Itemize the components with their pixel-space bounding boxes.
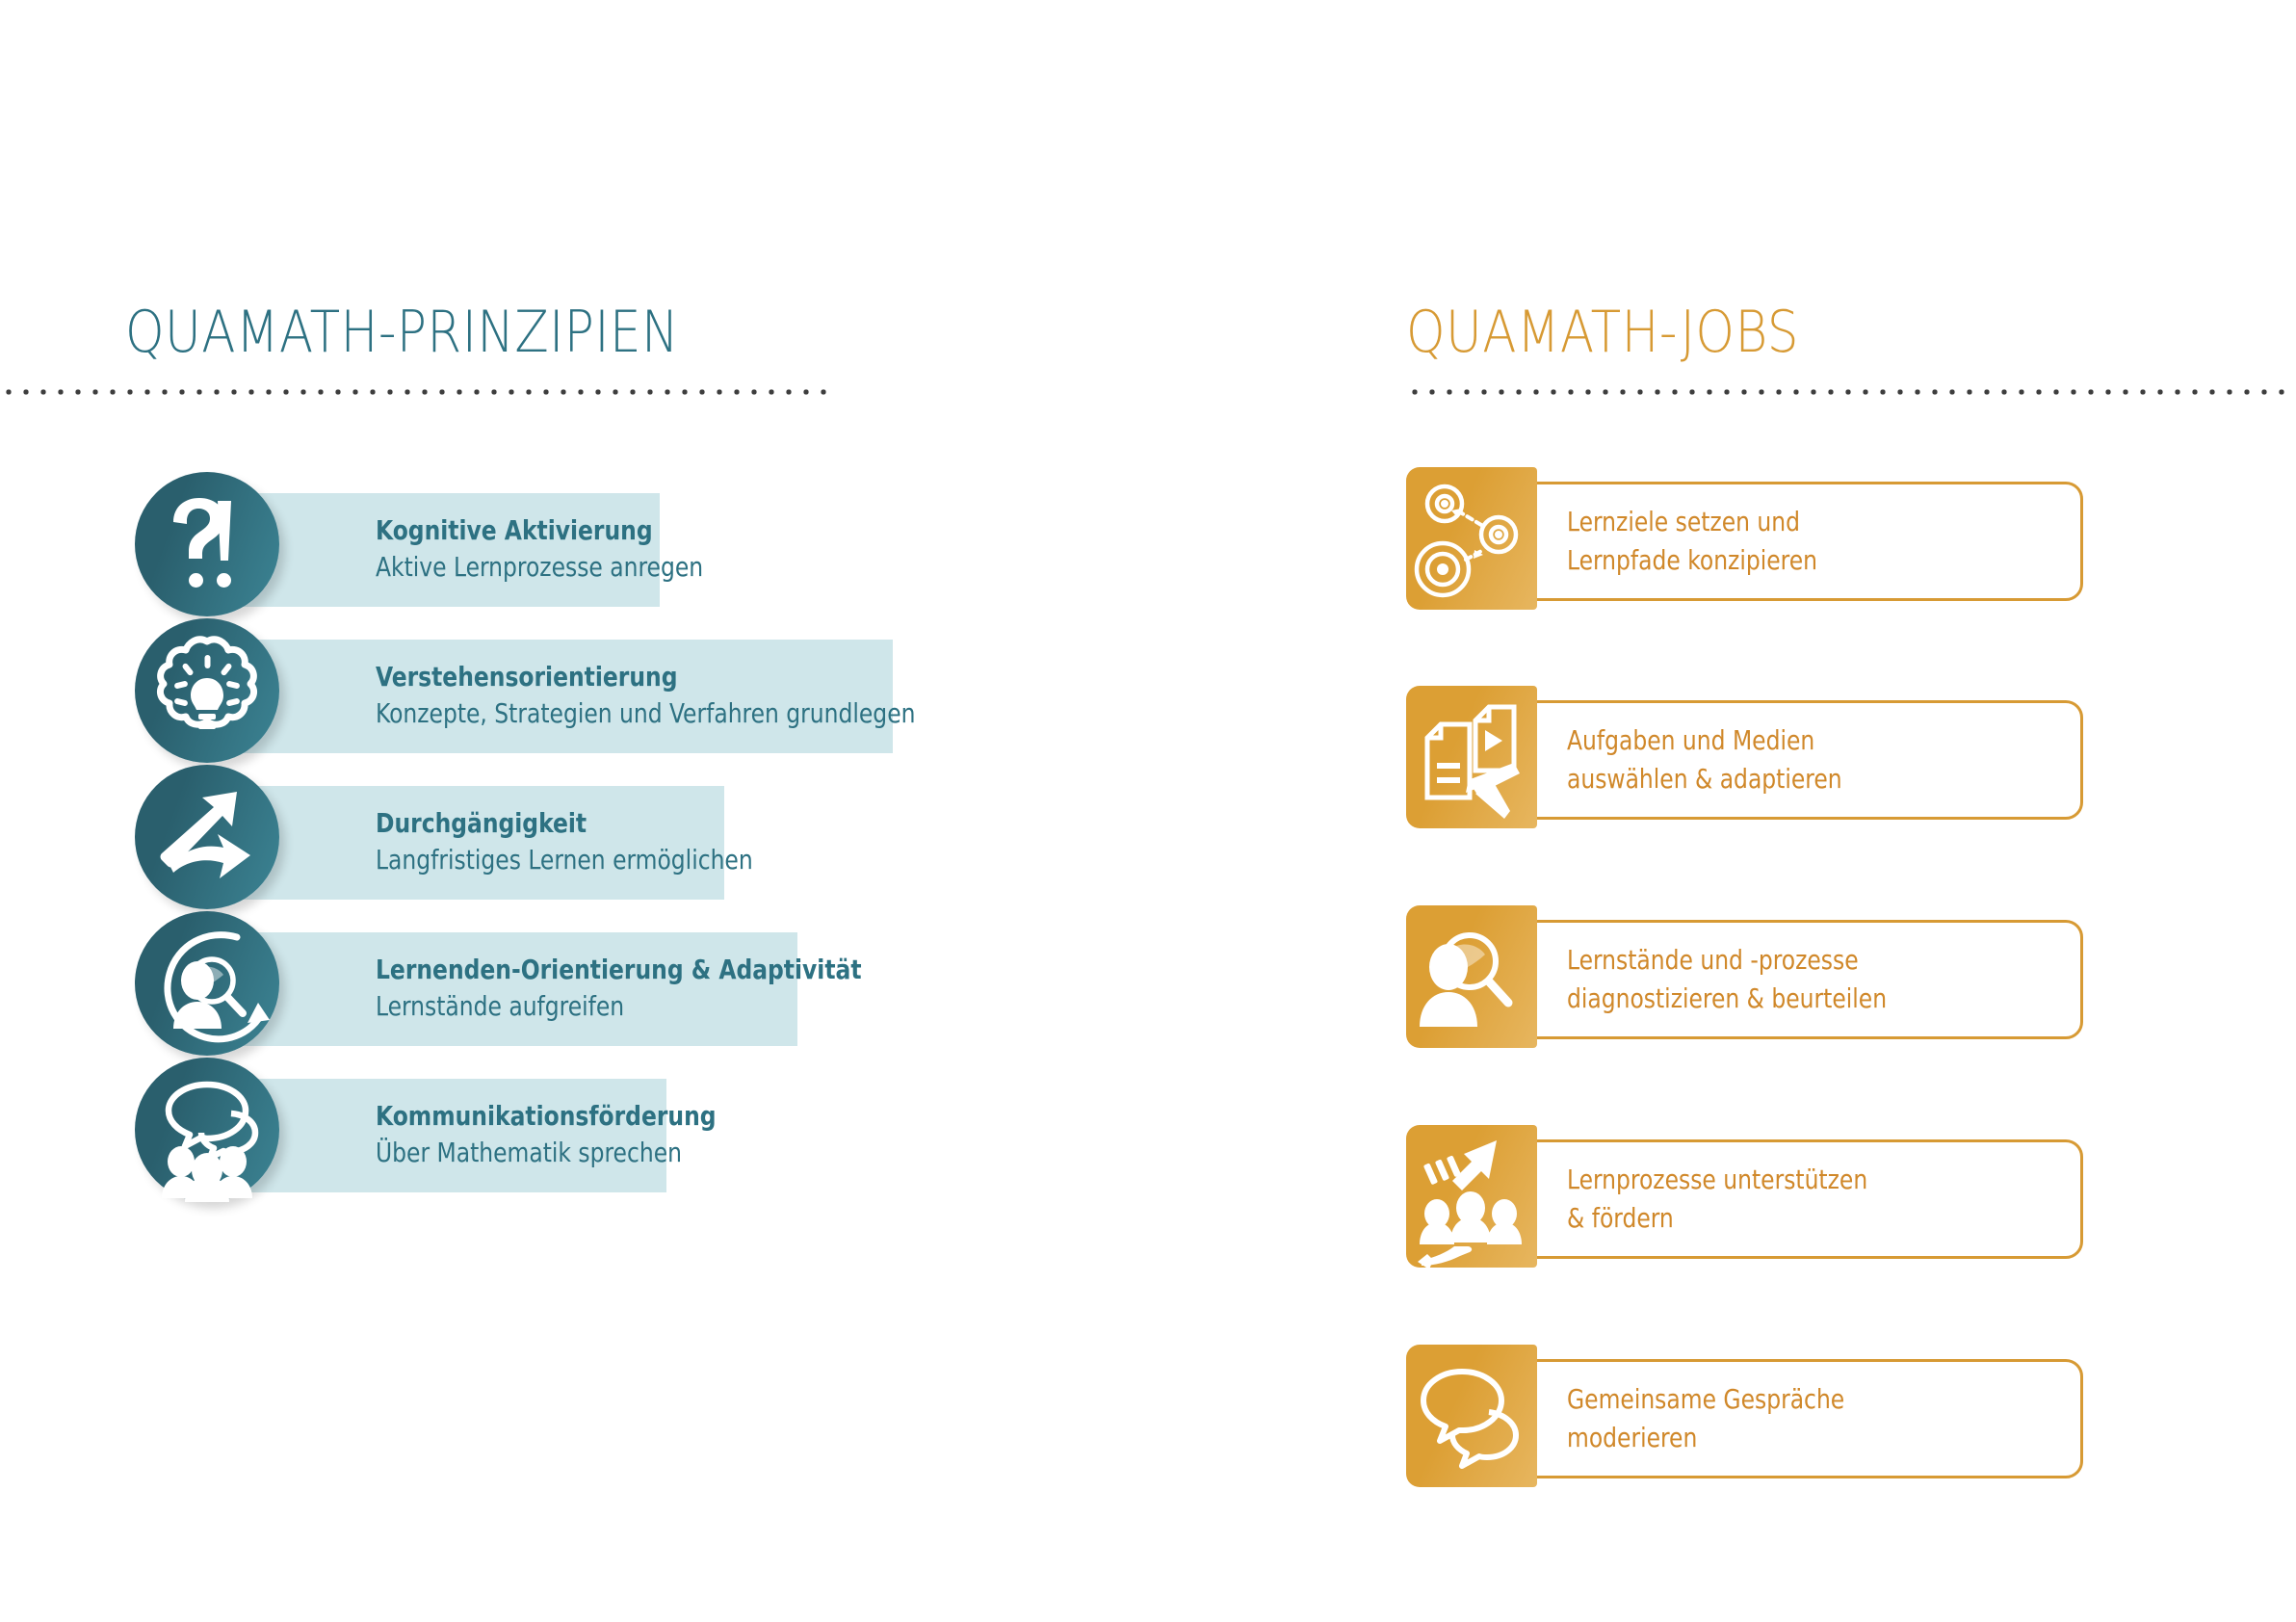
- job-line-2: diagnostizieren & beurteilen: [1567, 980, 2022, 1018]
- principle-title: Kognitive Aktivierung: [376, 514, 616, 547]
- people-arrow-hand-icon: [1406, 1125, 1537, 1268]
- job-line-1: Gemeinsame Gespräche: [1567, 1380, 2022, 1419]
- question-exclamation-icon: [135, 472, 279, 616]
- job-line-2: moderieren: [1567, 1419, 2022, 1457]
- principle-panel: Durchgängigkeit Langfristiges Lernen erm…: [207, 786, 724, 900]
- principle-title: Kommunikationsförderung: [376, 1100, 623, 1133]
- person-magnifier-icon: [1406, 905, 1537, 1048]
- job-textbox: Gemeinsame Gespräche moderieren: [1520, 1359, 2083, 1478]
- divider-dotted-right: [1406, 389, 2296, 395]
- principle-subtitle: Langfristiges Lernen ermöglichen: [376, 843, 676, 877]
- two-speech-bubbles-icon: [1406, 1345, 1537, 1487]
- job-line-2: auswählen & adaptieren: [1567, 760, 2022, 798]
- job-textbox: Lernziele setzen und Lernpfade konzipier…: [1520, 482, 2083, 601]
- principle-subtitle: Konzepte, Strategien und Verfahren grund…: [376, 696, 833, 731]
- speech-bubbles-people-icon: [135, 1058, 279, 1202]
- page-title-jobs: QUAMATH-JOBS: [1406, 299, 1799, 366]
- job-line-1: Aufgaben und Medien: [1567, 721, 2022, 760]
- divider-dotted-left: [0, 389, 828, 395]
- infographic-page: QUAMATH-PRINZIPIEN QUAMATH-JOBS Kognitiv…: [0, 0, 2296, 1622]
- job-line-1: Lernstände und -prozesse: [1567, 941, 2022, 980]
- job-line-2: & fördern: [1567, 1199, 2022, 1238]
- job-textbox: Lernstände und -prozesse diagnostizieren…: [1520, 920, 2083, 1039]
- principle-title: Lernenden-Orientierung & Adaptivität: [376, 954, 744, 986]
- documents-pencil-icon: [1406, 686, 1537, 828]
- principle-subtitle: Aktive Lernprozesse anregen: [376, 550, 616, 585]
- principle-title: Durchgängigkeit: [376, 807, 676, 840]
- job-textbox: Aufgaben und Medien auswählen & adaptier…: [1520, 700, 2083, 820]
- principle-title: Verstehensorientierung: [376, 661, 833, 693]
- principle-panel: Lernenden-Orientierung & Adaptivität Ler…: [207, 932, 797, 1046]
- principle-subtitle: Lernstände aufgreifen: [376, 989, 744, 1024]
- job-line-1: Lernziele setzen und: [1567, 503, 2022, 541]
- person-magnifier-cycle-icon: [135, 911, 279, 1056]
- curved-up-arrow-icon: [135, 765, 279, 909]
- job-line-1: Lernprozesse unterstützen: [1567, 1161, 2022, 1199]
- principle-panel: Verstehensorientierung Konzepte, Strateg…: [207, 640, 893, 753]
- page-title-principles: QUAMATH-PRINZIPIEN: [125, 299, 679, 366]
- lightbulb-thought-bubble-icon: [135, 618, 279, 763]
- job-textbox: Lernprozesse unterstützen & fördern: [1520, 1139, 2083, 1259]
- principle-subtitle: Über Mathematik sprechen: [376, 1136, 623, 1170]
- job-line-2: Lernpfade konzipieren: [1567, 541, 2022, 580]
- targets-dashed-path-icon: [1406, 467, 1537, 610]
